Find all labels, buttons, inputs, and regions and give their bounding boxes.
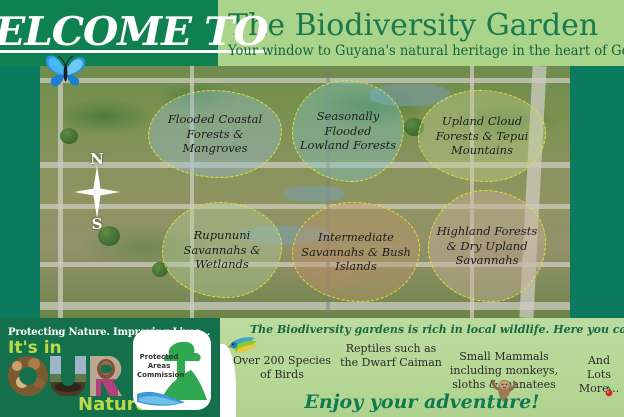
zone-upland-cloud[interactable]: Upland Cloud Forests & Tepui Mountains [418, 90, 546, 182]
map-path [40, 302, 570, 310]
map-path [40, 78, 570, 83]
call-to-action: Enjoy your adventure! [220, 391, 624, 413]
aerial-map[interactable]: N S Flooded Coastal Forests & Mangroves … [40, 66, 572, 320]
zone-label: Rupununi Savannahs & Wetlands [169, 228, 275, 272]
map-tree [60, 128, 78, 144]
fact-reptiles: Reptiles such as the Dwarf Caiman [336, 342, 446, 370]
zone-seasonally-flooded[interactable]: Seasonally Flooded Lowland Forests [292, 80, 404, 182]
map-path [58, 66, 63, 318]
compass-rose: N S [68, 152, 126, 230]
zone-flooded-coastal[interactable]: Flooded Coastal Forests & Mangroves [148, 90, 282, 178]
zone-label: Intermediate Savannahs & Bush Islands [299, 230, 413, 274]
title-block: The Biodiversity Garden Your window to G… [218, 0, 624, 66]
wildlife-heading: The Biodiversity gardens is rich in loca… [250, 323, 624, 336]
wildlife-facts-panel: The Biodiversity gardens is rich in loca… [220, 318, 624, 417]
slogan-its-in: It's in [8, 338, 62, 358]
zone-label: Upland Cloud Forests & Tepui Mountains [425, 114, 539, 158]
zone-intermediate[interactable]: Intermediate Savannahs & Bush Islands [292, 202, 420, 302]
compass-needle-icon [68, 152, 126, 230]
zone-label: Flooded Coastal Forests & Mangroves [155, 112, 275, 156]
welcome-block: WELCOME TO [0, 0, 218, 66]
zone-rupununi[interactable]: Rupununi Savannahs & Wetlands [162, 202, 282, 298]
fact-birds: Over 200 Species of Birds [228, 354, 336, 382]
zone-label: Highland Forests & Dry Upland Savannahs [435, 224, 539, 268]
page-subtitle: Your window to Guyana's natural heritage… [228, 43, 624, 59]
map-water [284, 186, 344, 202]
pac-logo-label: Protected Areas Commission [137, 353, 181, 380]
page-title: The Biodiversity Garden [228, 9, 624, 43]
fact-more: And Lots More... [576, 354, 622, 396]
zone-label: Seasonally Flooded Lowland Forests [299, 109, 397, 153]
poster-header: WELCOME TO The Biodiversity Garden Your … [0, 0, 624, 66]
slogan-our-photo-letters [8, 356, 128, 396]
zone-highland[interactable]: Highland Forests & Dry Upland Savannahs [428, 190, 546, 302]
pac-logo[interactable]: Protected Areas Commission [133, 330, 211, 410]
biodiversity-garden-poster: WELCOME TO The Biodiversity Garden Your … [0, 0, 624, 417]
